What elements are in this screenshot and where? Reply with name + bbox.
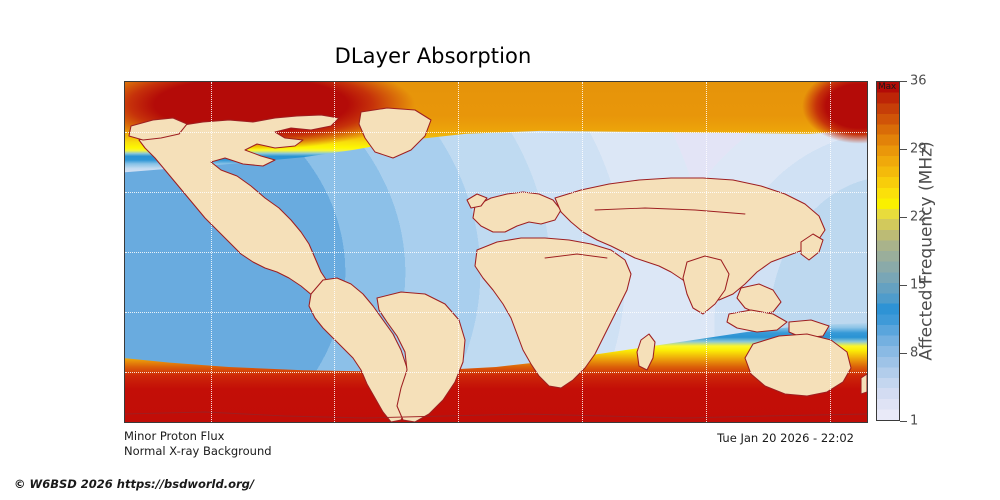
colorbar-axis-label-text: Affected Frequency (MHz) [917, 141, 937, 360]
colorbar-axis-label: Affected Frequency (MHz) [916, 81, 938, 421]
copyright-notice: © W6BSD 2026 https://bsdworld.org/ [14, 477, 254, 491]
colorbar-tick-22 [900, 217, 907, 218]
page-title: DLayer Absorption [0, 44, 866, 68]
graticule [125, 82, 867, 422]
world-map[interactable] [124, 81, 868, 423]
proton-flux-status: Minor Proton Flux [124, 429, 224, 443]
colorbar-tick-15 [900, 285, 907, 286]
colorbar-tick-1 [900, 421, 907, 422]
map-canvas [125, 82, 867, 422]
colorbar-tick-8 [900, 353, 907, 354]
colorbar-tick-29 [900, 149, 907, 150]
xray-background-status: Normal X-ray Background [124, 444, 272, 458]
timestamp: Tue Jan 20 2026 - 22:02 [717, 431, 854, 445]
colorbar-gradient [876, 81, 900, 421]
colorbar[interactable]: Max 36 29 22 15 8 1 [876, 81, 900, 421]
colorbar-tick-36 [900, 81, 907, 82]
colorbar-max-label: Max [877, 82, 896, 92]
